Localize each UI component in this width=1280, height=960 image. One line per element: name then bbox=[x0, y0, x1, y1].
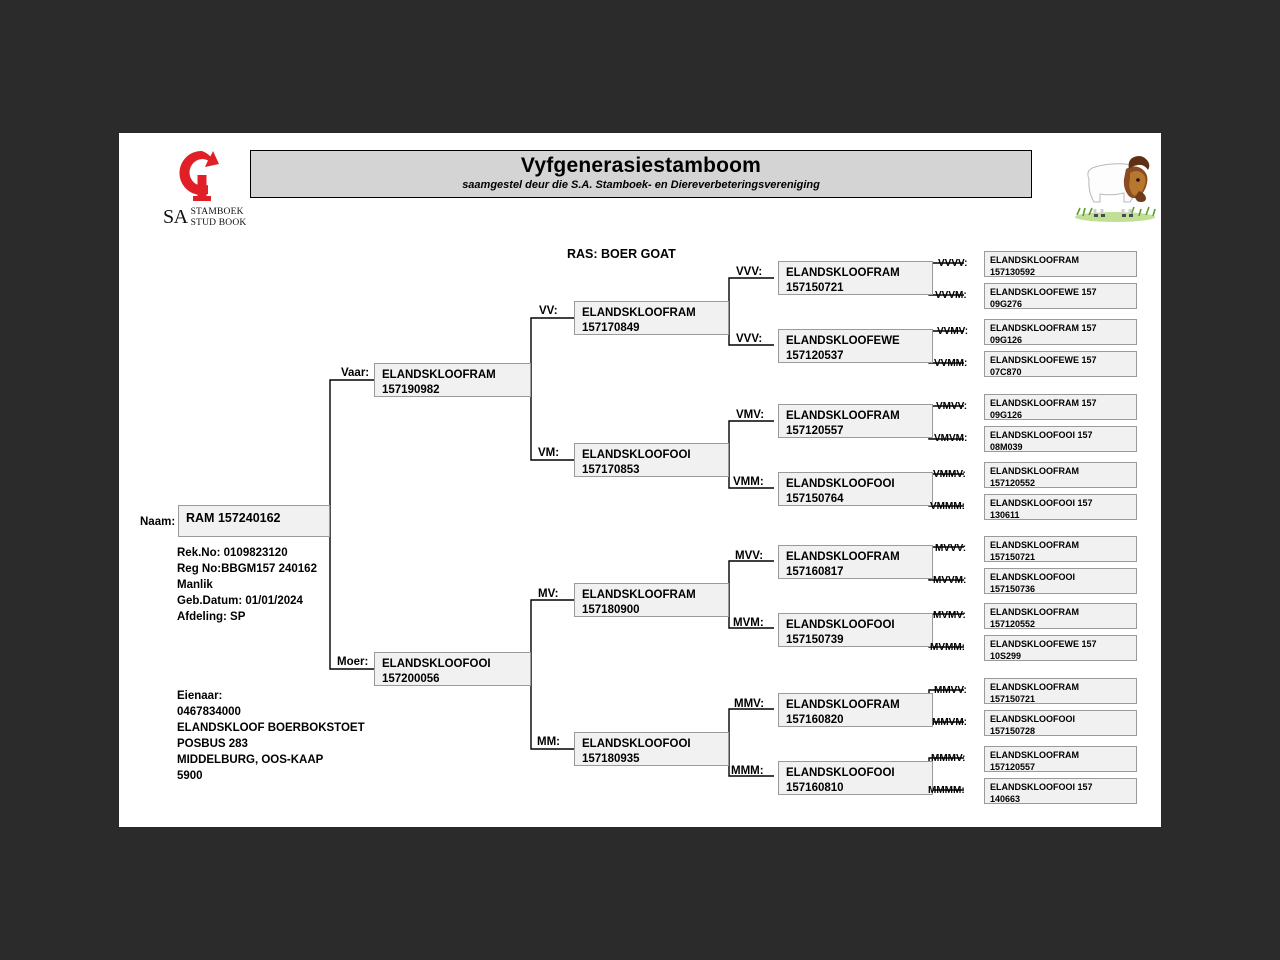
owner-label: Eienaar: bbox=[177, 688, 365, 704]
dam-id: 157200056 bbox=[382, 672, 524, 687]
gen2-label-mv: MV: bbox=[538, 588, 558, 600]
logo-line-1: STAMBOEK bbox=[191, 207, 247, 218]
gen3-mmv-id: 157160820 bbox=[786, 713, 926, 728]
gen4-mmmv-id: 157120557 bbox=[990, 762, 1132, 774]
gen4-vvmv-name: ELANDSKLOOFRAM 157 bbox=[990, 323, 1132, 335]
gen3-label-vmm: VMM: bbox=[733, 476, 764, 488]
gen3-box-mvm[interactable]: ELANDSKLOOFOOI 157150739 bbox=[778, 613, 933, 647]
gen3-vmm-id: 157150764 bbox=[786, 492, 926, 507]
gen3-label-mmm: MMM: bbox=[731, 765, 764, 777]
sa-logo-mark-icon bbox=[171, 145, 233, 207]
subject-name-box[interactable]: RAM 157240162 bbox=[178, 505, 330, 537]
gen4-mmmm-name: ELANDSKLOOFOOI 157 bbox=[990, 782, 1132, 794]
gen3-mmm-name: ELANDSKLOOFOOI bbox=[786, 766, 926, 781]
gen3-vvv-name: ELANDSKLOOFRAM bbox=[786, 266, 926, 281]
gen4-vvvm-id: 09G276 bbox=[990, 299, 1132, 311]
owner-postal-code: 5900 bbox=[177, 768, 365, 784]
gen3-vvm-name: ELANDSKLOOFEWE bbox=[786, 334, 926, 349]
gen3-mvv-name: ELANDSKLOOFRAM bbox=[786, 550, 926, 565]
gen4-box-vmvv[interactable]: ELANDSKLOOFRAM 157 09G126 bbox=[984, 394, 1137, 420]
gen2-mm-name: ELANDSKLOOFOOI bbox=[582, 737, 722, 752]
gen3-mmv-name: ELANDSKLOOFRAM bbox=[786, 698, 926, 713]
gen2-mv-name: ELANDSKLOOFRAM bbox=[582, 588, 722, 603]
gen4-box-vmmv[interactable]: ELANDSKLOOFRAM 157120552 bbox=[984, 462, 1137, 488]
subject-name: RAM 157240162 bbox=[186, 510, 323, 526]
gen3-label-vmv: VMV: bbox=[736, 409, 764, 421]
gen2-label-vv: VV: bbox=[539, 305, 558, 317]
document-title: Vyfgenerasiestamboom bbox=[251, 154, 1031, 178]
gen4-vmmv-name: ELANDSKLOOFRAM bbox=[990, 466, 1132, 478]
document-subtitle: saamgestel deur die S.A. Stamboek- en Di… bbox=[251, 179, 1031, 191]
gen4-vvvm-name: ELANDSKLOOFEWE 157 bbox=[990, 287, 1132, 299]
pedigree-document-page: SA STAMBOEK STUD BOOK Vyfgenerasiestambo… bbox=[119, 133, 1161, 827]
gen3-box-vmv[interactable]: ELANDSKLOOFRAM 157120557 bbox=[778, 404, 933, 438]
gen4-box-mvvv[interactable]: ELANDSKLOOFRAM 157150721 bbox=[984, 536, 1137, 562]
gen4-mvvm-id: 157150736 bbox=[990, 584, 1132, 596]
gen4-label-mmmv: MMMV: bbox=[931, 753, 965, 764]
gen3-box-mvv[interactable]: ELANDSKLOOFRAM 157160817 bbox=[778, 545, 933, 579]
gen4-mvmm-id: 10S299 bbox=[990, 651, 1132, 663]
gen3-mvm-name: ELANDSKLOOFOOI bbox=[786, 618, 926, 633]
gen4-label-mmmm: MMMM: bbox=[928, 785, 965, 796]
gen4-box-vvmm[interactable]: ELANDSKLOOFEWE 157 07C870 bbox=[984, 351, 1137, 377]
gen2-vm-name: ELANDSKLOOFOOI bbox=[582, 448, 722, 463]
gen2-box-mv[interactable]: ELANDSKLOOFRAM 157180900 bbox=[574, 583, 729, 617]
dam-label: Moer: bbox=[337, 656, 368, 668]
gen4-label-vmmm: VMMM: bbox=[930, 501, 965, 512]
gen4-label-mvmm: MVMM: bbox=[930, 642, 965, 653]
dam-name: ELANDSKLOOFOOI bbox=[382, 657, 524, 672]
gen4-label-mvvm: MVVM: bbox=[933, 575, 966, 586]
gen4-vvmm-name: ELANDSKLOOFEWE 157 bbox=[990, 355, 1132, 367]
gen3-label-mvv: MVV: bbox=[735, 550, 763, 562]
gen4-vmvm-id: 08M039 bbox=[990, 442, 1132, 454]
gen4-mvvv-id: 157150721 bbox=[990, 552, 1132, 564]
subject-detail-birth-date: Geb.Datum: 01/01/2024 bbox=[177, 593, 317, 609]
breed-label: RAS: BOER GOAT bbox=[567, 247, 676, 261]
sire-id: 157190982 bbox=[382, 383, 524, 398]
gen2-vv-id: 157170849 bbox=[582, 321, 722, 336]
gen4-box-mmvm[interactable]: ELANDSKLOOFOOI 157150728 bbox=[984, 710, 1137, 736]
gen4-vmmm-name: ELANDSKLOOFOOI 157 bbox=[990, 498, 1132, 510]
gen3-label-vvm: VVV: bbox=[736, 333, 762, 345]
gen4-box-vmvm[interactable]: ELANDSKLOOFOOI 157 08M039 bbox=[984, 426, 1137, 452]
gen4-label-mvmv: MVMV: bbox=[933, 610, 966, 621]
gen4-label-vvmm: VVMM: bbox=[934, 358, 967, 369]
gen4-box-mvvm[interactable]: ELANDSKLOOFOOI 157150736 bbox=[984, 568, 1137, 594]
gen3-box-vmm[interactable]: ELANDSKLOOFOOI 157150764 bbox=[778, 472, 933, 506]
subject-detail-reg-no: Reg No:BBGM157 240162 bbox=[177, 561, 317, 577]
document-title-banner: Vyfgenerasiestamboom saamgestel deur die… bbox=[250, 150, 1032, 198]
owner-block: Eienaar: 0467834000 ELANDSKLOOF BOERBOKS… bbox=[177, 688, 365, 784]
gen4-box-mmmm[interactable]: ELANDSKLOOFOOI 157 140663 bbox=[984, 778, 1137, 804]
gen2-box-vv[interactable]: ELANDSKLOOFRAM 157170849 bbox=[574, 301, 729, 335]
gen2-vv-name: ELANDSKLOOFRAM bbox=[582, 306, 722, 321]
gen4-mmvv-name: ELANDSKLOOFRAM bbox=[990, 682, 1132, 694]
subject-details: Rek.No: 0109823120 Reg No:BBGM157 240162… bbox=[177, 545, 317, 625]
gen4-box-vmmm[interactable]: ELANDSKLOOFOOI 157 130611 bbox=[984, 494, 1137, 520]
gen4-mvmv-id: 157120552 bbox=[990, 619, 1132, 631]
gen2-mv-id: 157180900 bbox=[582, 603, 722, 618]
gen3-vvm-id: 157120537 bbox=[786, 349, 926, 364]
subject-detail-sex: Manlik bbox=[177, 577, 317, 593]
gen3-box-mmm[interactable]: ELANDSKLOOFOOI 157160810 bbox=[778, 761, 933, 795]
gen4-label-vvmv: VVMV: bbox=[937, 326, 968, 337]
gen4-label-vmvm: VMVM: bbox=[934, 433, 967, 444]
subject-detail-afdeling: Afdeling: SP bbox=[177, 609, 317, 625]
gen4-vvmm-id: 07C870 bbox=[990, 367, 1132, 379]
sa-stamboek-logo: SA STAMBOEK STUD BOOK bbox=[149, 145, 259, 240]
gen4-box-mmvv[interactable]: ELANDSKLOOFRAM 157150721 bbox=[984, 678, 1137, 704]
sire-box[interactable]: ELANDSKLOOFRAM 157190982 bbox=[374, 363, 531, 397]
owner-stud-name: ELANDSKLOOF BOERBOKSTOET bbox=[177, 720, 365, 736]
gen2-label-mm: MM: bbox=[537, 736, 560, 748]
gen2-box-vm[interactable]: ELANDSKLOOFOOI 157170853 bbox=[574, 443, 729, 477]
gen3-vmv-id: 157120557 bbox=[786, 424, 926, 439]
logo-wordmark: SA STAMBOEK STUD BOOK bbox=[163, 207, 263, 228]
gen2-vm-id: 157170853 bbox=[582, 463, 722, 478]
gen4-label-vmmv: VMMV: bbox=[933, 469, 966, 480]
gen4-mmmv-name: ELANDSKLOOFRAM bbox=[990, 750, 1132, 762]
gen4-mmvm-id: 157150728 bbox=[990, 726, 1132, 738]
gen3-box-mmv[interactable]: ELANDSKLOOFRAM 157160820 bbox=[778, 693, 933, 727]
gen3-vmv-name: ELANDSKLOOFRAM bbox=[786, 409, 926, 424]
logo-abbr: SA bbox=[163, 207, 188, 227]
gen4-box-mvmm[interactable]: ELANDSKLOOFEWE 157 10S299 bbox=[984, 635, 1137, 661]
logo-line-2: STUD BOOK bbox=[191, 218, 247, 229]
gen4-label-mvvv: MVVV: bbox=[935, 543, 966, 554]
gen4-mvvm-name: ELANDSKLOOFOOI bbox=[990, 572, 1132, 584]
gen3-label-mmv: MMV: bbox=[734, 698, 764, 710]
gen4-vvmv-id: 09G126 bbox=[990, 335, 1132, 347]
gen3-vvv-id: 157150721 bbox=[786, 281, 926, 296]
gen4-mvmm-name: ELANDSKLOOFEWE 157 bbox=[990, 639, 1132, 651]
gen4-vvvv-id: 157130592 bbox=[990, 267, 1132, 279]
gen4-label-mmvm: MMVM: bbox=[932, 717, 967, 728]
owner-postal: POSBUS 283 bbox=[177, 736, 365, 752]
gen4-mmvv-id: 157150721 bbox=[990, 694, 1132, 706]
gen3-mvv-id: 157160817 bbox=[786, 565, 926, 580]
gen3-mmm-id: 157160810 bbox=[786, 781, 926, 796]
subject-name-label: Naam: bbox=[140, 516, 175, 528]
gen4-label-vmvv: VMVV: bbox=[936, 401, 967, 412]
gen4-vmvm-name: ELANDSKLOOFOOI 157 bbox=[990, 430, 1132, 442]
sire-label: Vaar: bbox=[341, 367, 369, 379]
gen4-vmmm-id: 130611 bbox=[990, 510, 1132, 522]
dam-box[interactable]: ELANDSKLOOFOOI 157200056 bbox=[374, 652, 531, 686]
sire-name: ELANDSKLOOFRAM bbox=[382, 368, 524, 383]
gen4-box-vvmv[interactable]: ELANDSKLOOFRAM 157 09G126 bbox=[984, 319, 1137, 345]
gen4-mvmv-name: ELANDSKLOOFRAM bbox=[990, 607, 1132, 619]
gen2-box-mm[interactable]: ELANDSKLOOFOOI 157180935 bbox=[574, 732, 729, 766]
gen4-box-mvmv[interactable]: ELANDSKLOOFRAM 157120552 bbox=[984, 603, 1137, 629]
gen3-label-vvv: VVV: bbox=[736, 266, 762, 278]
gen4-mmvm-name: ELANDSKLOOFOOI bbox=[990, 714, 1132, 726]
gen4-label-vvvm: VVVM: bbox=[935, 290, 967, 301]
gen4-box-mmmv[interactable]: ELANDSKLOOFRAM 157120557 bbox=[984, 746, 1137, 772]
gen4-vvvv-name: ELANDSKLOOFRAM bbox=[990, 255, 1132, 267]
gen4-mvvv-name: ELANDSKLOOFRAM bbox=[990, 540, 1132, 552]
gen4-vmvv-name: ELANDSKLOOFRAM 157 bbox=[990, 398, 1132, 410]
gen3-box-vvm[interactable]: ELANDSKLOOFEWE 157120537 bbox=[778, 329, 933, 363]
gen2-mm-id: 157180935 bbox=[582, 752, 722, 767]
gen4-label-vvvv: VVVV: bbox=[938, 258, 967, 269]
gen4-box-vvvm[interactable]: ELANDSKLOOFEWE 157 09G276 bbox=[984, 283, 1137, 309]
gen4-label-mmvv: MMVV: bbox=[934, 685, 967, 696]
gen4-mmmm-id: 140663 bbox=[990, 794, 1132, 806]
gen4-vmvv-id: 09G126 bbox=[990, 410, 1132, 422]
gen3-box-vvv[interactable]: ELANDSKLOOFRAM 157150721 bbox=[778, 261, 933, 295]
owner-number: 0467834000 bbox=[177, 704, 365, 720]
gen4-vmmv-id: 157120552 bbox=[990, 478, 1132, 490]
gen2-label-vm: VM: bbox=[538, 447, 559, 459]
subject-detail-rek-no: Rek.No: 0109823120 bbox=[177, 545, 317, 561]
gen3-mvm-id: 157150739 bbox=[786, 633, 926, 648]
gen3-vmm-name: ELANDSKLOOFOOI bbox=[786, 477, 926, 492]
boer-goat-illustration-icon bbox=[1069, 147, 1161, 225]
gen4-box-vvvv[interactable]: ELANDSKLOOFRAM 157130592 bbox=[984, 251, 1137, 277]
owner-city: MIDDELBURG, OOS-KAAP bbox=[177, 752, 365, 768]
gen3-label-mvm: MVM: bbox=[733, 617, 764, 629]
